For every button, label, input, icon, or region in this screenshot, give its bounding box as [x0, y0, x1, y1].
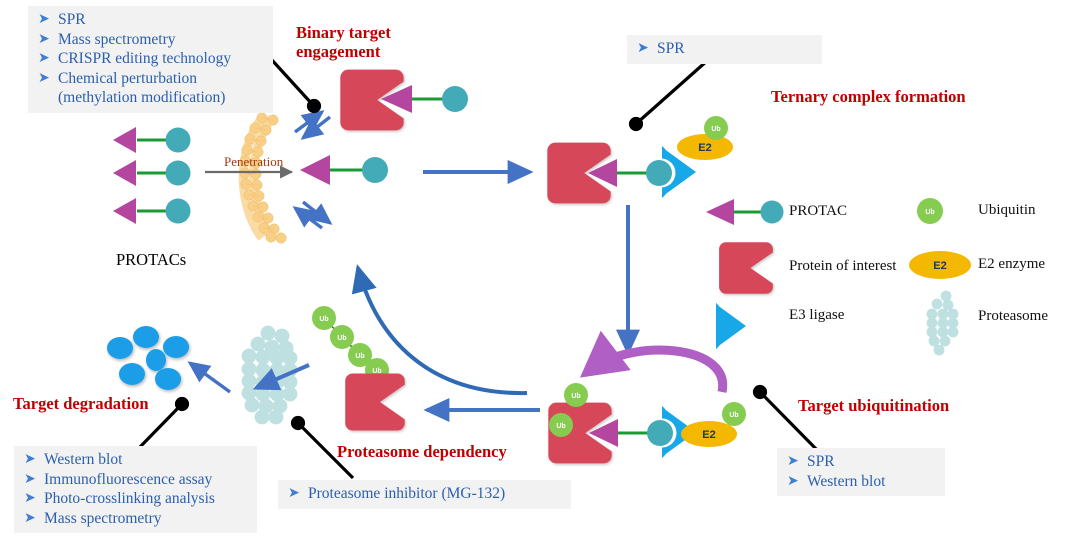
list-item-label: SPR — [58, 11, 86, 28]
e3-ligand-icon — [442, 86, 468, 112]
ub-glyph-label: Ub — [556, 423, 565, 430]
ternary-e2-enzyme-icon — [677, 134, 733, 160]
legend-label-protein-of-interest: Protein of interest — [789, 258, 896, 275]
ub-glyph-label: Ub — [337, 335, 346, 342]
label-penetration: Penetration — [224, 154, 283, 170]
degraded-protein-of-interest-icon — [345, 373, 405, 430]
arrow-to-degraded-fragments — [190, 363, 230, 392]
ubiq-e3-ligase-icon — [603, 397, 696, 468]
proteasome-dependency-box: ➤ Proteasome inhibitor (MG-132) — [278, 480, 571, 509]
bullet-icon: ➤ — [637, 39, 649, 59]
legend-icons: Ub E2 — [664, 198, 971, 357]
e2-glyph-label: E2 — [698, 142, 711, 154]
list-item-label: Western blot — [44, 451, 122, 468]
label-ternary-complex-formation: Ternary complex formation — [771, 87, 966, 106]
legend-e2-enzyme-icon — [909, 251, 971, 279]
list-item: ➤ Mass spectrometry — [22, 509, 247, 529]
ubiquitin-icon-chain-4 — [365, 358, 389, 382]
arrow-into-proteasome — [256, 365, 309, 388]
protac-molecule-1 — [113, 127, 191, 153]
bullet-icon: ➤ — [24, 450, 36, 470]
label-line-1: Binary target — [296, 23, 391, 42]
legend-proteasome-icon — [927, 291, 959, 356]
bullet-icon: ➤ — [24, 509, 36, 529]
ub-glyph-label: Ub — [319, 316, 328, 323]
ubiq-e2-enzyme-icon — [681, 421, 737, 447]
list-item: ➤ Western blot — [785, 472, 935, 492]
equilibrium-arrows-lower — [295, 202, 330, 228]
target-degradation-box: ➤ Western blot ➤ Immunofluorescence assa… — [14, 446, 257, 533]
list-item: ➤ Mass spectrometry — [36, 30, 263, 50]
list-item-label: Proteasome inhibitor (MG-132) — [308, 485, 505, 502]
list-item-continuation: (methylation modification) — [36, 88, 263, 108]
label-proteasome-dependency: Proteasome dependency — [337, 442, 507, 461]
list-item-label: Mass spectrometry — [44, 510, 162, 527]
e2-glyph-label: E2 — [933, 260, 946, 272]
label-binary-target-engagement: Binary target engagement — [296, 23, 391, 61]
ub-glyph-label: Ub — [925, 209, 934, 216]
list-item: ➤ Western blot — [22, 450, 247, 470]
list-item-label: CRISPR editing technology — [58, 50, 231, 67]
legend-label-proteasome: Proteasome — [978, 308, 1048, 325]
ub-glyph-label: Ub — [571, 393, 580, 400]
bullet-icon: ➤ — [24, 489, 36, 509]
target-ubiquitination-box: ➤ SPR ➤ Western blot — [777, 448, 945, 496]
ternary-e3-ligase-icon — [603, 137, 696, 208]
bullet-icon: ➤ — [288, 484, 300, 504]
list-item-label: Western blot — [807, 473, 885, 490]
list-item: ➤ Photo-crosslinking analysis — [22, 489, 247, 509]
ternary-ubiquitin-icon — [704, 116, 728, 140]
protac-molecule-2 — [113, 160, 191, 186]
list-item-label: Mass spectrometry — [58, 31, 176, 48]
label-target-degradation: Target degradation — [13, 394, 149, 413]
ternary-spr-box: ➤ SPR — [627, 35, 822, 64]
ubiquitin-icon-free-1 — [564, 383, 588, 407]
ternary-protein-of-interest-icon — [547, 143, 610, 204]
legend-ubiquitin-icon — [917, 198, 943, 224]
legend-label-e2-enzyme: E2 enzyme — [978, 256, 1045, 273]
list-item-label: Photo-crosslinking analysis — [44, 490, 215, 507]
protac-molecule-3 — [113, 198, 191, 224]
degraded-fragments-icon — [107, 326, 189, 390]
bullet-icon: ➤ — [38, 49, 50, 69]
bullet-icon: ➤ — [38, 30, 50, 50]
list-item: ➤ SPR — [36, 10, 263, 30]
e2-glyph-label: E2 — [702, 429, 715, 441]
list-item: ➤ Immunofluorescence assay — [22, 470, 247, 490]
list-item: ➤ Proteasome inhibitor (MG-132) — [286, 484, 561, 504]
list-item: ➤ SPR — [635, 39, 812, 59]
list-item-label: (methylation modification) — [58, 89, 225, 106]
list-item-label: SPR — [807, 453, 835, 470]
protac-molecule-internalized — [300, 155, 388, 185]
ub-glyph-label: Ub — [711, 126, 720, 133]
ub-glyph-label: Ub — [372, 368, 381, 375]
legend-e3-ligase-icon — [664, 295, 746, 357]
diagram-canvas: E2 Ub E2 Ub Ub Ub — [0, 0, 1080, 545]
callout-line-ternary — [637, 60, 708, 123]
ub-glyph-label: Ub — [355, 353, 364, 360]
bullet-icon: ➤ — [787, 472, 799, 492]
ub-glyph-label: Ub — [729, 412, 738, 419]
warhead-icon — [381, 85, 412, 113]
label-protacs: PROTACs — [116, 250, 186, 270]
label-line-2: engagement — [296, 42, 391, 61]
legend-protac-icon — [706, 199, 784, 225]
cell-membrane-icon — [240, 113, 286, 243]
ternary-complex: E2 Ub — [547, 116, 733, 207]
legend-label-ubiquitin: Ubiquitin — [978, 202, 1036, 219]
ubiquitin-transfer-arc — [590, 350, 723, 392]
label-target-ubiquitination: Target ubiquitination — [798, 396, 949, 415]
bullet-icon: ➤ — [787, 452, 799, 472]
list-item: ➤ Chemical perturbation — [36, 69, 263, 89]
bullet-icon: ➤ — [38, 10, 50, 30]
list-item-label: Immunofluorescence assay — [44, 471, 212, 488]
callout-line-binary — [271, 59, 312, 104]
ubiq-protein-of-interest-icon — [548, 403, 611, 464]
legend-label-e3-ligase: E3 ligase — [789, 307, 844, 324]
bullet-icon: ➤ — [24, 470, 36, 490]
ubiquitin-icon-chain-1 — [312, 306, 336, 330]
equilibrium-arrows-upper — [295, 112, 330, 138]
proteasome-icon — [242, 326, 298, 425]
bullet-icon: ➤ — [38, 69, 50, 89]
arrow-recycling — [358, 268, 527, 393]
list-item-label: Chemical perturbation — [58, 70, 197, 87]
callout-lines — [140, 59, 822, 478]
binary-complex — [340, 70, 468, 131]
target-identification-box: ➤ SPR ➤ Mass spectrometry ➤ CRISPR editi… — [28, 6, 273, 113]
ubiquitinated-ternary-complex: E2 Ub Ub Ub — [548, 383, 746, 467]
ubiquitin-icon-chain-3 — [348, 343, 372, 367]
legend-label-protac: PROTAC — [789, 203, 847, 220]
ubiquitin-icon-attached — [722, 402, 746, 426]
legend-protein-of-interest-icon — [719, 242, 773, 294]
list-item: ➤ SPR — [785, 452, 935, 472]
list-item-label: SPR — [657, 40, 685, 57]
ubiquitin-icon-free-2 — [549, 413, 573, 437]
polyubiquitinated-protein: Ub Ub Ub Ub — [312, 306, 405, 431]
protein-of-interest-icon — [340, 70, 403, 131]
ubiquitin-icon-chain-2 — [330, 325, 354, 349]
list-item: ➤ CRISPR editing technology — [36, 49, 263, 69]
